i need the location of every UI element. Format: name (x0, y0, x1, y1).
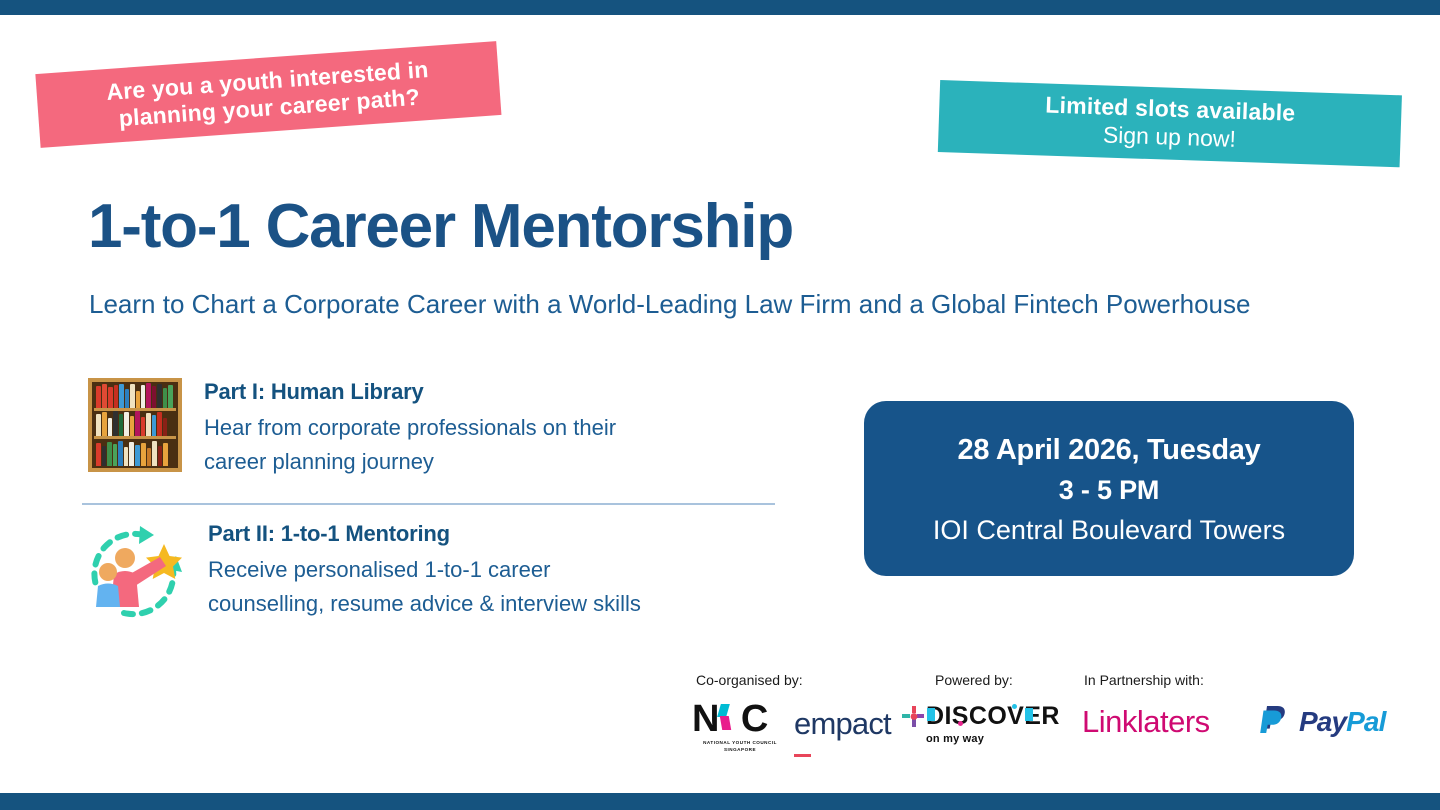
mentoring-growth-icon (80, 520, 190, 624)
part-one-block: Part I: Human Library Hear from corporat… (88, 378, 616, 479)
discover-logo: DISCOVER on my way (926, 704, 1056, 756)
discover-cyan-dot (1012, 704, 1017, 709)
nyc-logo-mark: NYC (692, 700, 788, 738)
label-co-organised: Co-organised by: (696, 672, 803, 688)
part-two-text: Part II: 1-to-1 Mentoring Receive person… (208, 520, 641, 621)
part-two-title: Part II: 1-to-1 Mentoring (208, 520, 641, 548)
footer-logos: Co-organised by: Powered by: In Partners… (696, 672, 1396, 762)
empact-underline-accent (794, 754, 811, 757)
pink-question-ribbon: Are you a youth interested in planning y… (35, 41, 501, 148)
bottom-accent-bar (0, 793, 1440, 810)
empact-logo: empact (794, 708, 924, 752)
discover-pink-dot (958, 721, 963, 726)
part-one-desc-line2: career planning journey (204, 445, 616, 479)
nyc-letter-c: C (741, 698, 766, 740)
teal-ribbon-line1: Limited slots available (1045, 92, 1296, 128)
paypal-logo: Pay Pal (1258, 702, 1385, 741)
page-subtitle: Learn to Chart a Corporate Career with a… (89, 288, 1274, 321)
paypal-word-pay: Pay (1299, 708, 1346, 736)
label-powered-by: Powered by: (935, 672, 1013, 688)
paypal-word-pal: Pal (1346, 708, 1385, 736)
nyc-sub-line2: SINGAPORE (692, 747, 788, 754)
teal-ribbon-line2: Sign up now! (1102, 121, 1236, 153)
bookshelf-icon (88, 378, 182, 472)
part-two-desc-line1: Receive personalised 1-to-1 career (208, 553, 641, 587)
linklaters-wordmark: Linklaters (1082, 704, 1210, 739)
discover-cyan-right-accent (1025, 708, 1033, 721)
empact-pinwheel-icon (902, 706, 924, 733)
discover-tagline: on my way (926, 733, 984, 745)
page-title: 1-to-1 Career Mentorship (88, 194, 793, 259)
top-accent-bar (0, 0, 1440, 15)
discover-wordmark: DISCOVER (926, 704, 1056, 729)
nyc-letter-n: N (692, 698, 717, 740)
part-two-desc-line2: counselling, resume advice & interview s… (208, 587, 641, 621)
label-in-partnership: In Partnership with: (1084, 672, 1204, 688)
event-venue: IOI Central Boulevard Towers (933, 512, 1285, 548)
nyc-letter-y: Y (717, 700, 740, 738)
event-time: 3 - 5 PM (1059, 472, 1159, 508)
part-one-title: Part I: Human Library (204, 378, 616, 406)
section-divider (82, 503, 775, 505)
part-one-text: Part I: Human Library Hear from corporat… (204, 378, 616, 479)
nyc-y-pink-stroke (720, 716, 731, 730)
event-date: 28 April 2026, Tuesday (958, 432, 1261, 470)
part-two-block: Part II: 1-to-1 Mentoring Receive person… (80, 520, 641, 624)
discover-cyan-left-accent (927, 708, 935, 721)
linklaters-logo: Linklaters (1082, 706, 1210, 737)
part-one-desc-line1: Hear from corporate professionals on the… (204, 411, 616, 445)
paypal-p-icon (1258, 702, 1292, 741)
teal-slots-ribbon: Limited slots available Sign up now! (938, 80, 1402, 167)
nyc-logo: NYC NATIONAL YOUTH COUNCIL SINGAPORE (692, 700, 788, 756)
event-details-card: 28 April 2026, Tuesday 3 - 5 PM IOI Cent… (864, 401, 1354, 576)
nyc-sub-line1: NATIONAL YOUTH COUNCIL (692, 740, 788, 747)
empact-wordmark: empact (794, 708, 891, 739)
